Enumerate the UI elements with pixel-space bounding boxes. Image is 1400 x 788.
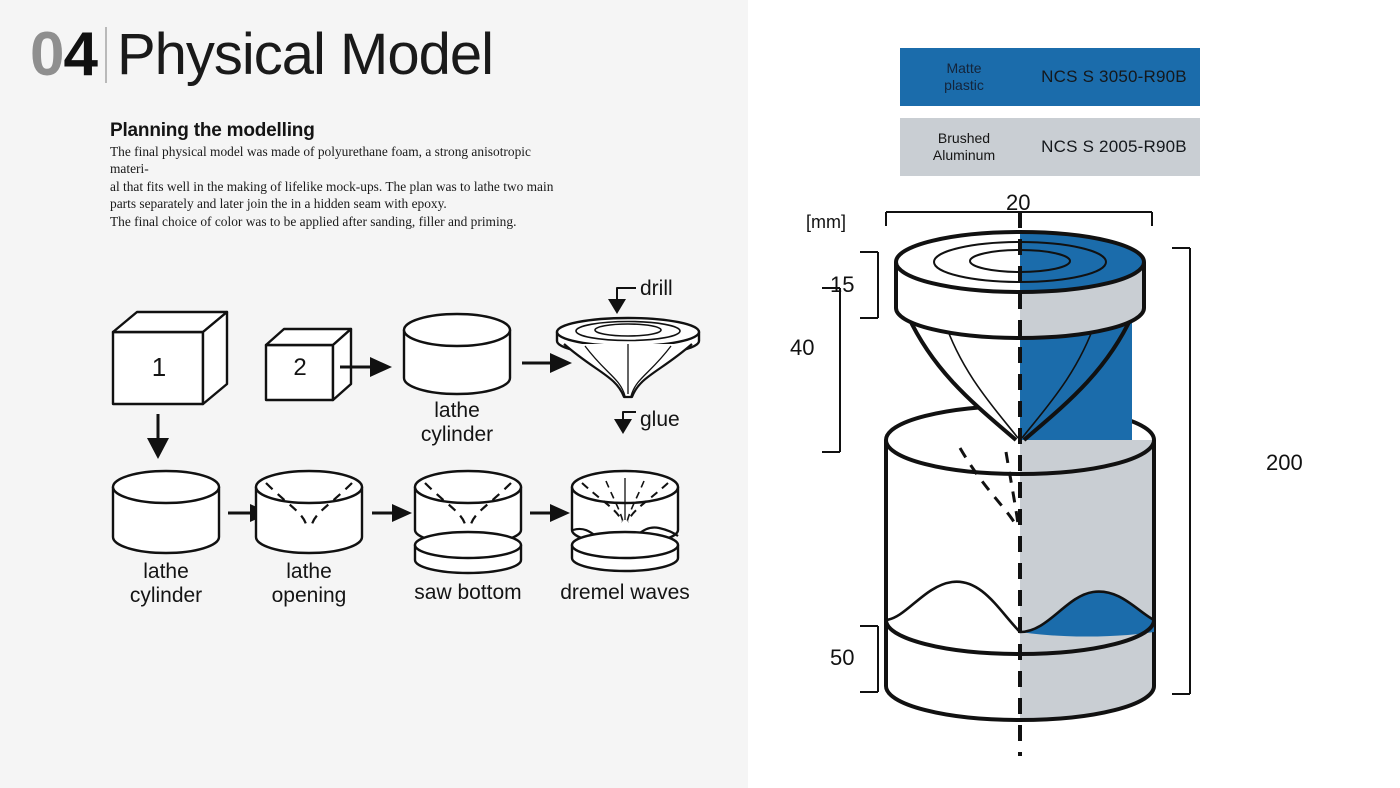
dremel-waves xyxy=(572,471,678,571)
page-title: 04 Physical Model xyxy=(30,24,493,86)
swatch-brushed-aluminum-name: Brushed Aluminum xyxy=(900,130,1028,164)
funnel-piece xyxy=(557,318,699,397)
paragraph-line-1: The final physical model was made of pol… xyxy=(110,143,562,178)
label-glue: glue xyxy=(640,408,680,432)
dimension-lines xyxy=(822,212,1190,694)
hidden-lines xyxy=(960,448,1018,524)
dim-total-height: 200 xyxy=(1266,450,1303,476)
slide-root: 04 Physical Model Planning the modelling… xyxy=(0,0,1400,788)
dim-top-width: 20 xyxy=(1006,190,1030,216)
process-diagram xyxy=(0,0,748,788)
dim-bottom: 50 xyxy=(830,645,854,671)
intro-paragraph: The final physical model was made of pol… xyxy=(110,143,562,230)
arrow-right-3 xyxy=(228,504,270,522)
top-plate xyxy=(896,232,1144,338)
paragraph-line-2: al that fits well in the making of lifel… xyxy=(110,178,562,195)
label-drill: drill xyxy=(640,277,673,301)
paragraph-line-4: The final choice of color was to be appl… xyxy=(110,213,562,230)
saw-bottom xyxy=(415,471,521,573)
right-panel: Matte plastic NCS S 3050-R90B Brushed Al… xyxy=(748,0,1400,788)
bottom-cylinder xyxy=(886,406,1154,720)
label-lathe-cylinder: lathe cylinder xyxy=(106,560,226,607)
label-top-lathe-cylinder: lathe cylinder xyxy=(397,399,517,446)
dim-top-plate: 15 xyxy=(830,272,854,298)
label-lathe-opening: lathe opening xyxy=(249,560,369,607)
section-number-gray: 0 xyxy=(30,20,63,89)
material-swatches: Matte plastic NCS S 3050-R90B Brushed Al… xyxy=(900,48,1200,176)
label-saw-bottom: saw bottom xyxy=(398,581,538,605)
label-block-1: 1 xyxy=(139,353,179,382)
funnel-body xyxy=(908,316,1132,440)
swatch-matte-plastic: Matte plastic NCS S 3050-R90B xyxy=(900,48,1200,106)
lathe-opening xyxy=(256,471,362,553)
left-panel: 04 Physical Model Planning the modelling… xyxy=(0,0,748,788)
arrow-right-4 xyxy=(372,504,412,522)
label-dremel-waves: dremel waves xyxy=(545,581,705,605)
swatch-brushed-aluminum: Brushed Aluminum NCS S 2005-R90B xyxy=(900,118,1200,176)
title-text: Physical Model xyxy=(117,26,493,84)
dim-unit-label: [mm] xyxy=(806,212,846,233)
label-block-2: 2 xyxy=(280,355,320,382)
swatch-brushed-aluminum-code: NCS S 2005-R90B xyxy=(1028,137,1200,157)
subheading: Planning the modelling xyxy=(110,120,315,142)
title-divider xyxy=(105,27,107,83)
paragraph-line-3: parts separately and later join the in a… xyxy=(110,195,562,212)
swatch-matte-plastic-code: NCS S 3050-R90B xyxy=(1028,67,1200,87)
wave-section xyxy=(886,582,1154,654)
arrow-right-5 xyxy=(530,504,570,522)
glue-leader xyxy=(614,412,636,434)
arrow-right-1 xyxy=(340,357,392,377)
bottom-lathe-cylinder xyxy=(113,471,219,553)
arrow-right-2 xyxy=(522,353,572,373)
section-number: 04 xyxy=(30,24,97,86)
top-lathe-cylinder xyxy=(404,314,510,394)
section-number-black: 4 xyxy=(63,20,96,89)
dim-funnel: 40 xyxy=(790,335,814,361)
swatch-matte-plastic-name: Matte plastic xyxy=(900,60,1028,94)
arrow-down-1 xyxy=(147,414,169,459)
drill-leader xyxy=(608,288,636,314)
